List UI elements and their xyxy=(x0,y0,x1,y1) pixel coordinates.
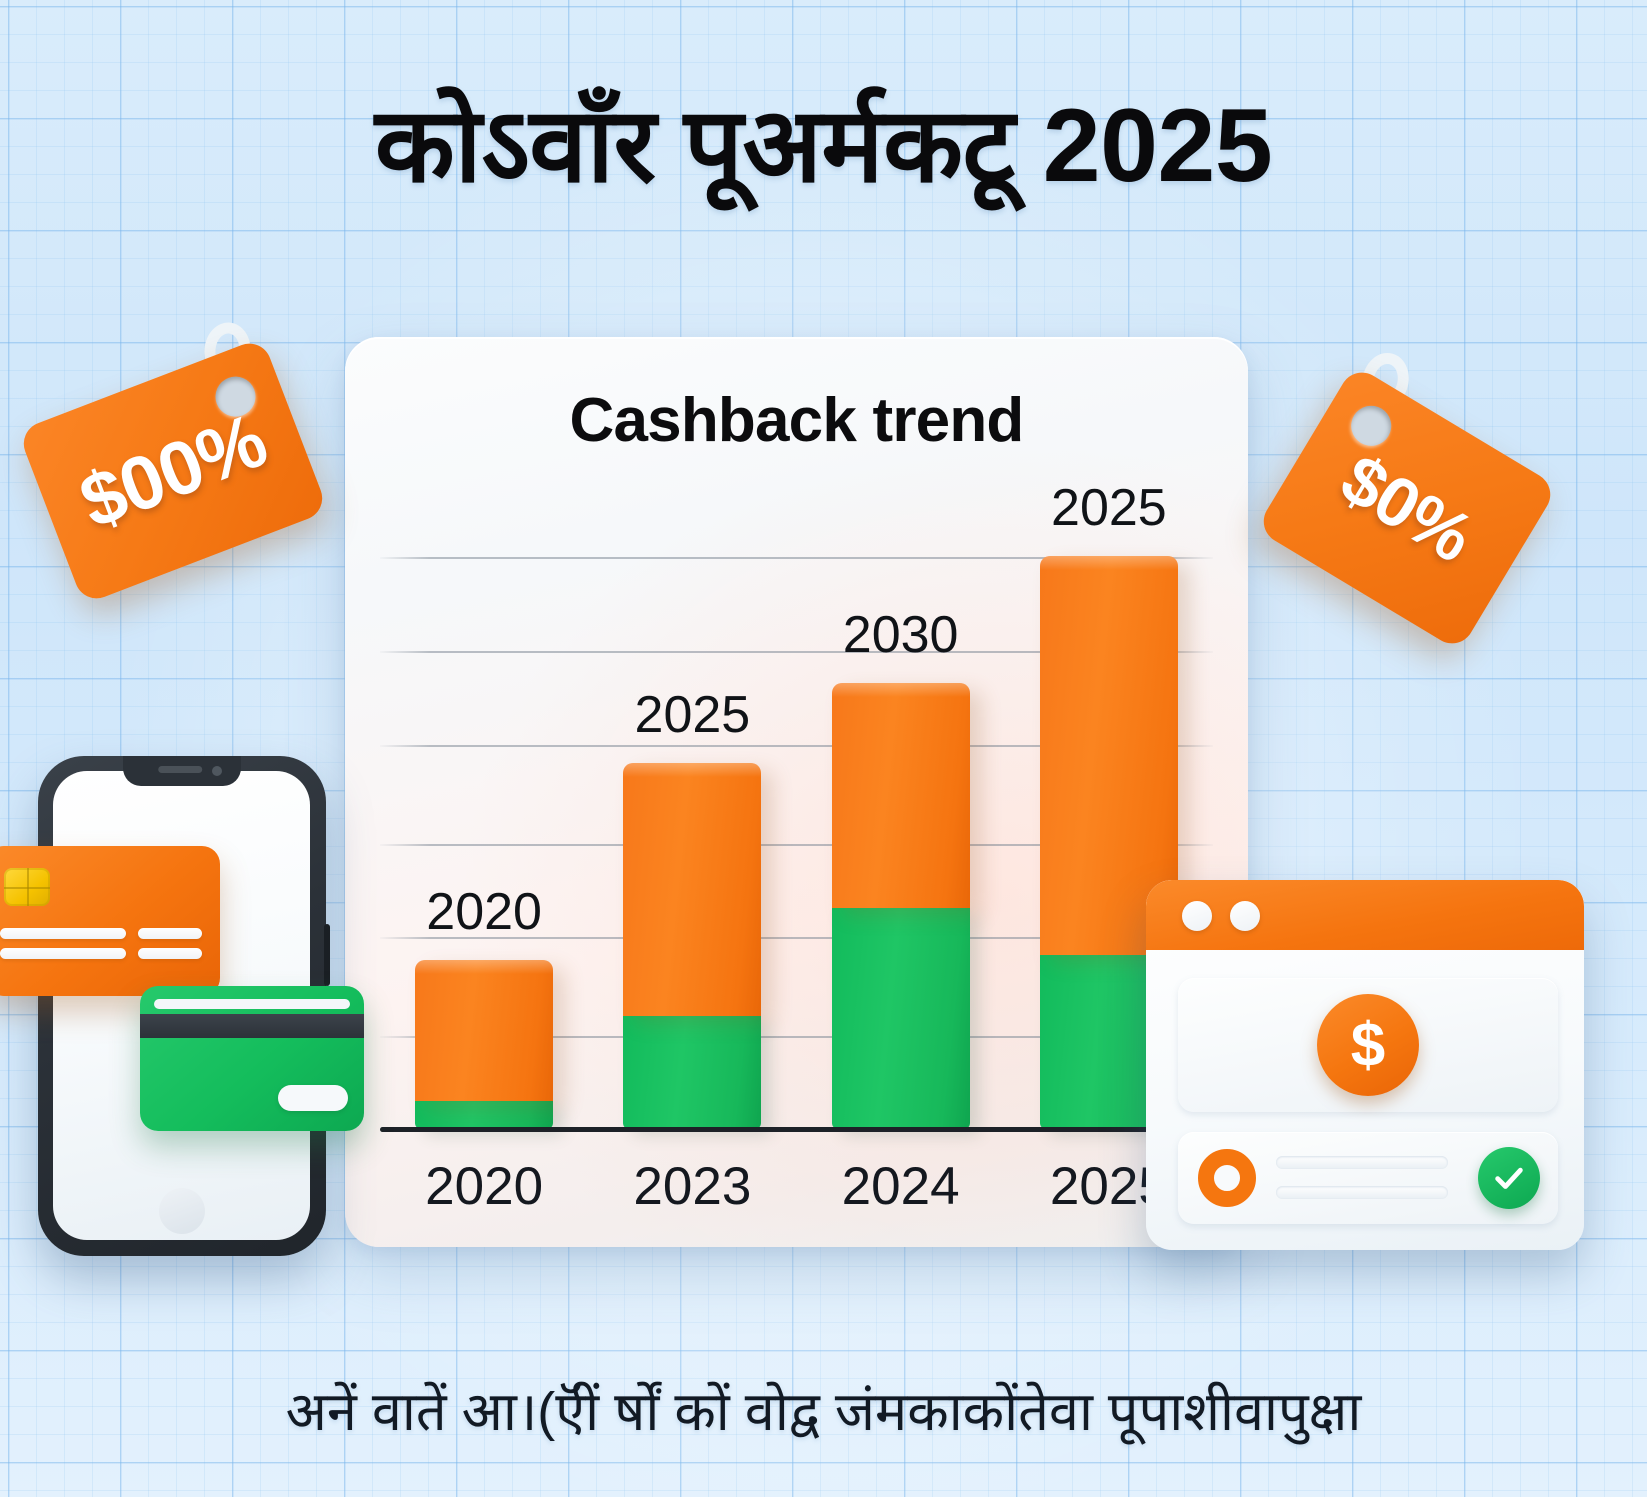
chart-bar-value-label: 2020 xyxy=(426,882,542,942)
page-title: कोऽवॉंर पूअर्मकटू 2025 xyxy=(0,88,1647,204)
price-tag-body: $0% xyxy=(1256,364,1559,651)
chart-bar-segment-orange xyxy=(832,683,970,908)
chart-title: Cashback trend xyxy=(345,385,1248,456)
chart-bar: 2020 xyxy=(415,960,553,1129)
browser-panel-top: $ xyxy=(1178,978,1558,1112)
price-tag-right-label: $0% xyxy=(1256,364,1559,651)
chart-bar-segment-green xyxy=(623,1016,761,1129)
chart-bar-value-label: 2025 xyxy=(1051,478,1167,538)
phone-camera-icon xyxy=(212,766,222,776)
chart-x-tick-label: 2023 xyxy=(623,1156,761,1217)
price-tag-left: $00% xyxy=(17,337,328,605)
card-magnetic-stripe xyxy=(140,1014,364,1038)
card-chip-icon xyxy=(4,868,50,906)
ring-icon xyxy=(1198,1149,1256,1207)
page-caption: अनें वातें आ।(ऍीं र्षों कों वोद्व जंमकाक… xyxy=(0,1380,1647,1445)
credit-card-orange xyxy=(0,846,220,996)
dollar-coin-icon: $ xyxy=(1317,994,1419,1096)
chart-card: Cashback trend 2020202520302025 20202023… xyxy=(345,337,1248,1247)
chart-plot-area: 2020202520302025 2020202320242025 xyxy=(380,512,1213,1132)
chart-x-tick-label: 2024 xyxy=(832,1156,970,1217)
chart-x-tick-label: 2020 xyxy=(415,1156,553,1217)
placeholder-text-line xyxy=(1276,1156,1448,1169)
poster-canvas: कोऽवॉंर पूअर्मकटू 2025 $00% $0% Cashback… xyxy=(0,0,1647,1497)
phone-speaker-icon xyxy=(158,766,202,773)
chart-bar-segment-green xyxy=(415,1101,553,1129)
browser-dot-icon xyxy=(1182,901,1212,931)
phone-home-button xyxy=(159,1188,205,1234)
price-tag-left-label: $00% xyxy=(17,337,328,605)
browser-panel-bottom xyxy=(1178,1132,1558,1224)
chart-bar-value-label: 2025 xyxy=(635,685,751,745)
browser-dot-icon xyxy=(1230,901,1260,931)
chart-bar-value-label: 2030 xyxy=(843,605,959,665)
card-top-line xyxy=(154,999,350,1009)
card-number-line xyxy=(138,948,202,959)
card-number-line xyxy=(0,928,126,939)
price-tag-body: $00% xyxy=(17,337,328,605)
chart-bar-segment-orange xyxy=(623,763,761,1017)
chart-bar: 2025 xyxy=(623,763,761,1129)
credit-card-green xyxy=(140,986,364,1131)
card-number-line xyxy=(138,928,202,939)
card-signature-pill xyxy=(278,1085,348,1111)
chart-x-axis xyxy=(380,1127,1213,1132)
card-number-line xyxy=(0,948,126,959)
chart-bar: 2030 xyxy=(832,683,970,1129)
chart-bar-segment-orange xyxy=(415,960,553,1101)
browser-window-illustration: $ xyxy=(1146,880,1584,1250)
check-badge-icon xyxy=(1478,1147,1540,1209)
browser-title-bar xyxy=(1146,880,1584,950)
placeholder-text-line xyxy=(1276,1186,1448,1199)
phone-side-button xyxy=(324,924,330,986)
price-tag-right: $0% xyxy=(1256,364,1559,651)
chart-bar-segment-green xyxy=(832,908,970,1129)
